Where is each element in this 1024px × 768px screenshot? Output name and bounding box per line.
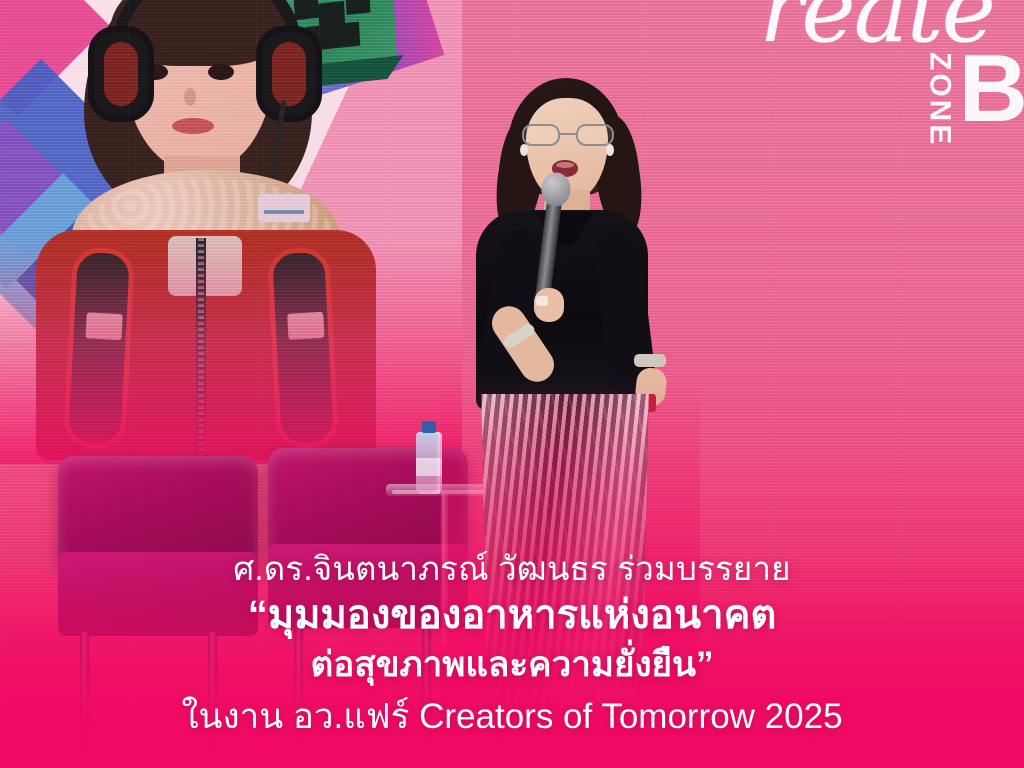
- caption-speaker-name: ศ.ดร.จินตนาภรณ์ วัฒนธร ร่วมบรรยาย: [0, 549, 1024, 589]
- caption-block: ศ.ดร.จินตนาภรณ์ วัฒนธร ร่วมบรรยาย “มุมมอ…: [0, 549, 1024, 740]
- eyeglass-lens-right: [576, 124, 614, 146]
- earring-right: [606, 144, 614, 156]
- caption-topic-line-2: ต่อสุขภาพและความยั่งยืน”: [0, 642, 1024, 688]
- eyeglass-bridge: [560, 133, 576, 135]
- water-bottle: [416, 432, 442, 494]
- caption-topic-line-1: “มุมมองของอาหารแห่งอนาคต: [0, 590, 1024, 641]
- bottle-cap: [422, 421, 436, 433]
- event-photo-stage: reate ZONE B: [0, 0, 1024, 768]
- eyeglass-lens-left: [522, 124, 560, 146]
- eyeglasses-icon: [522, 124, 614, 146]
- wristwatch: [634, 354, 666, 367]
- bottle-label: [416, 458, 442, 476]
- caption-event-name: ในงาน อว.แฟร์ Creators of Tomorrow 2025: [0, 694, 1024, 740]
- earring-left: [520, 144, 528, 156]
- ring: [536, 296, 548, 306]
